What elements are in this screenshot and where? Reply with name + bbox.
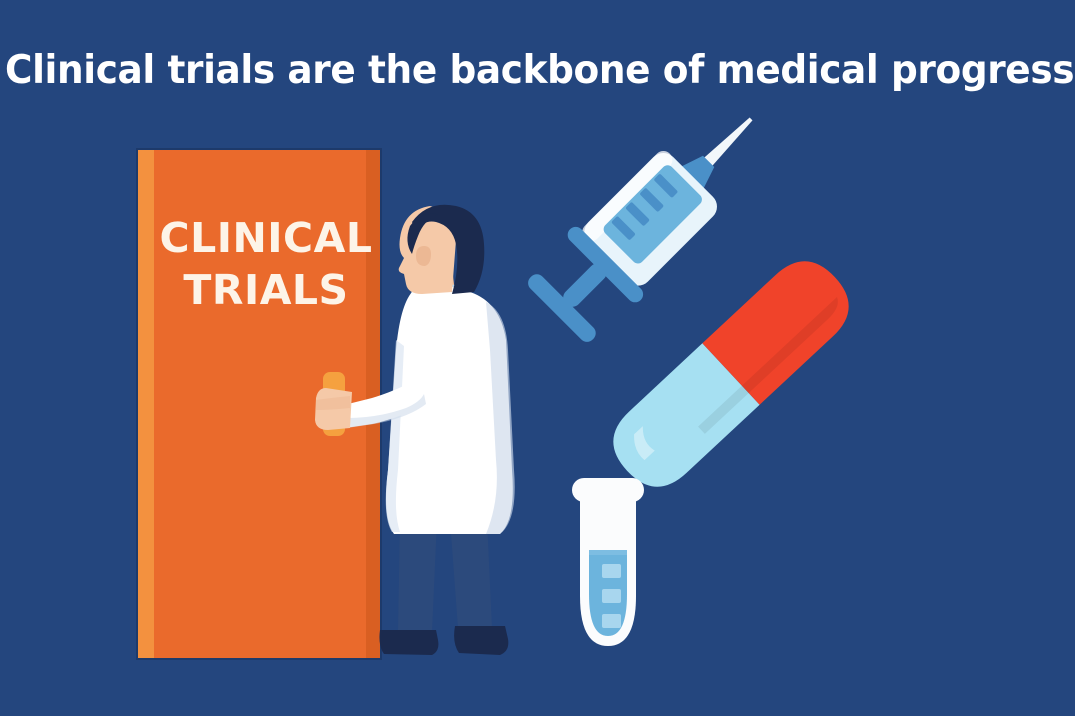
leg-front (450, 520, 492, 628)
test-tube-liquid-surface (589, 550, 627, 555)
ear (416, 246, 431, 266)
door-label: CLINICAL TRIALS (152, 212, 380, 317)
test-tube-icon (572, 478, 644, 646)
test-tube-tick (602, 564, 621, 578)
syringe-needle (702, 115, 756, 169)
door-label-line1: CLINICAL (160, 214, 373, 262)
leg-back (398, 520, 437, 632)
test-tube-rim (572, 478, 644, 502)
shoe-front (454, 626, 508, 655)
shoe-back (380, 630, 439, 655)
illustration-canvas: Clinical trials are the backbone of medi… (0, 0, 1075, 716)
test-tube-tick (602, 589, 621, 603)
scene-artwork (0, 0, 1075, 716)
door-label-line2: TRIALS (152, 264, 380, 316)
test-tube-tick (602, 614, 621, 628)
